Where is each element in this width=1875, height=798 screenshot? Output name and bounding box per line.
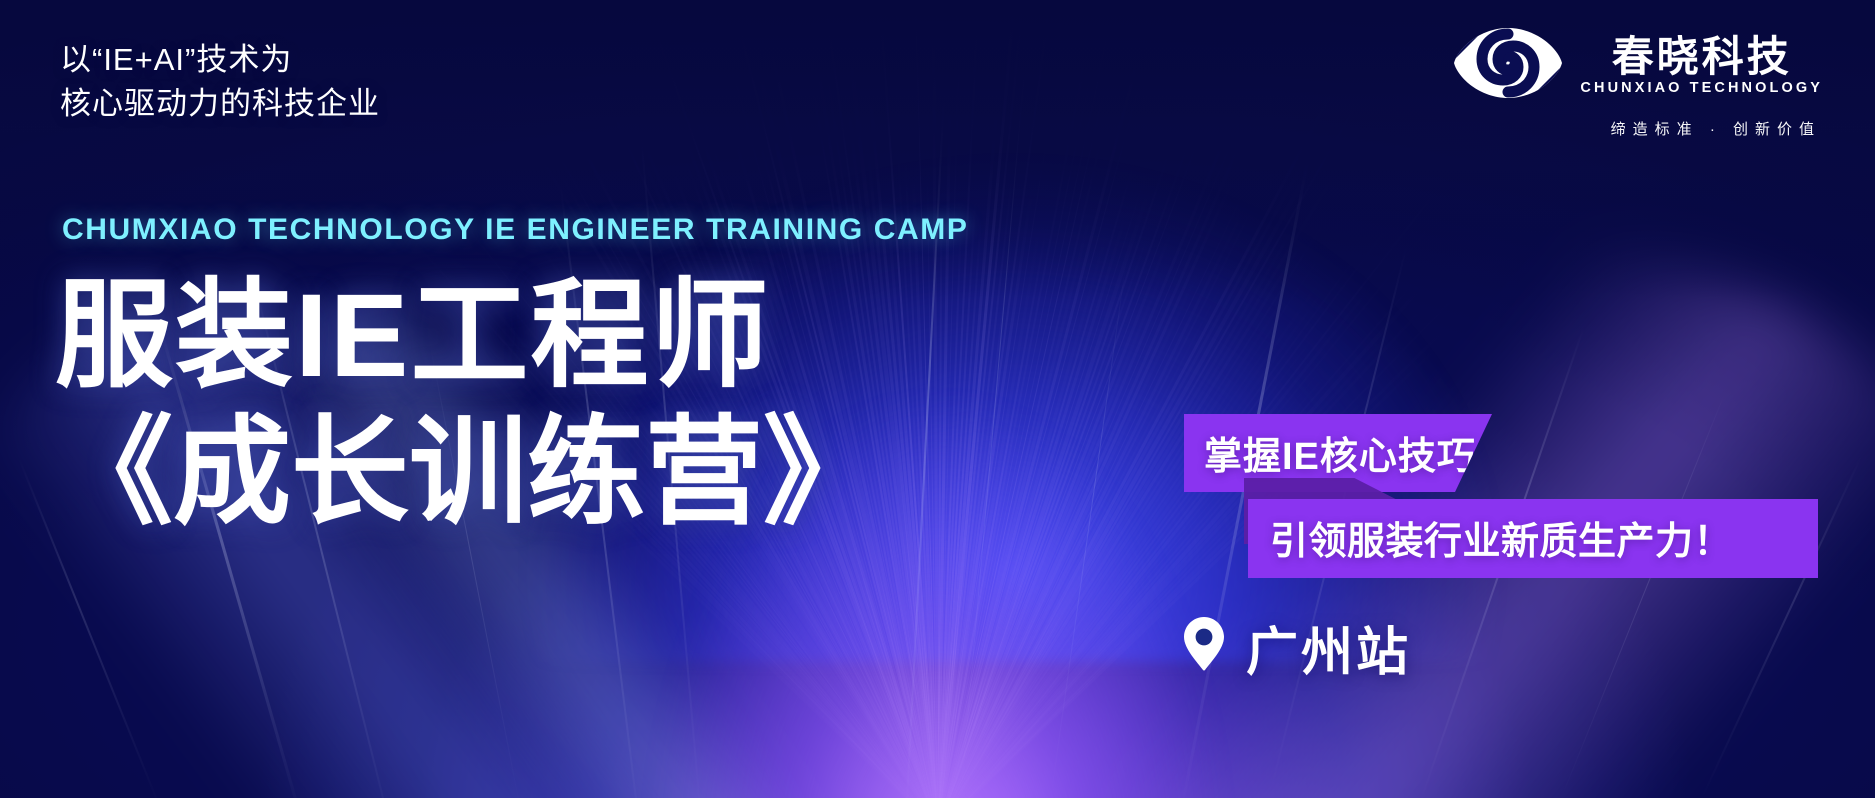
logo-name-cn: 春晓科技 [1612, 36, 1792, 78]
headline-line-1: 服装IE工程师 [55, 268, 881, 405]
chunxiao-eye-logo-icon [1452, 26, 1564, 105]
main-headline: 服装IE工程师 《成长训练营》 [55, 268, 881, 542]
badge-secondary: 引领服装行业新质生产力！ [1248, 499, 1818, 578]
location-label: 广州站 [1246, 610, 1411, 685]
promo-banner: 以“IE+AI”技术为 核心驱动力的科技企业 [0, 0, 1875, 798]
logo-slogan: 缔造标准 · 创新价值 [1611, 118, 1823, 139]
event-location: 广州站 [1182, 610, 1411, 685]
map-pin-icon [1182, 616, 1226, 679]
brand-logo-block: 春晓科技 CHUNXIAO TECHNOLOGY 缔造标准 · 创新价值 [1452, 26, 1823, 139]
company-tagline: 以“IE+AI”技术为 核心驱动力的科技企业 [60, 38, 380, 126]
english-kicker: CHUMXIAO TECHNOLOGY IE ENGINEER TRAINING… [62, 213, 969, 247]
headline-line-2: 《成长训练营》 [55, 405, 881, 542]
callout-badges: 掌握IE核心技巧 引领服装行业新质生产力！ [1184, 414, 1844, 578]
logo-name-en: CHUNXIAO TECHNOLOGY [1580, 81, 1823, 96]
